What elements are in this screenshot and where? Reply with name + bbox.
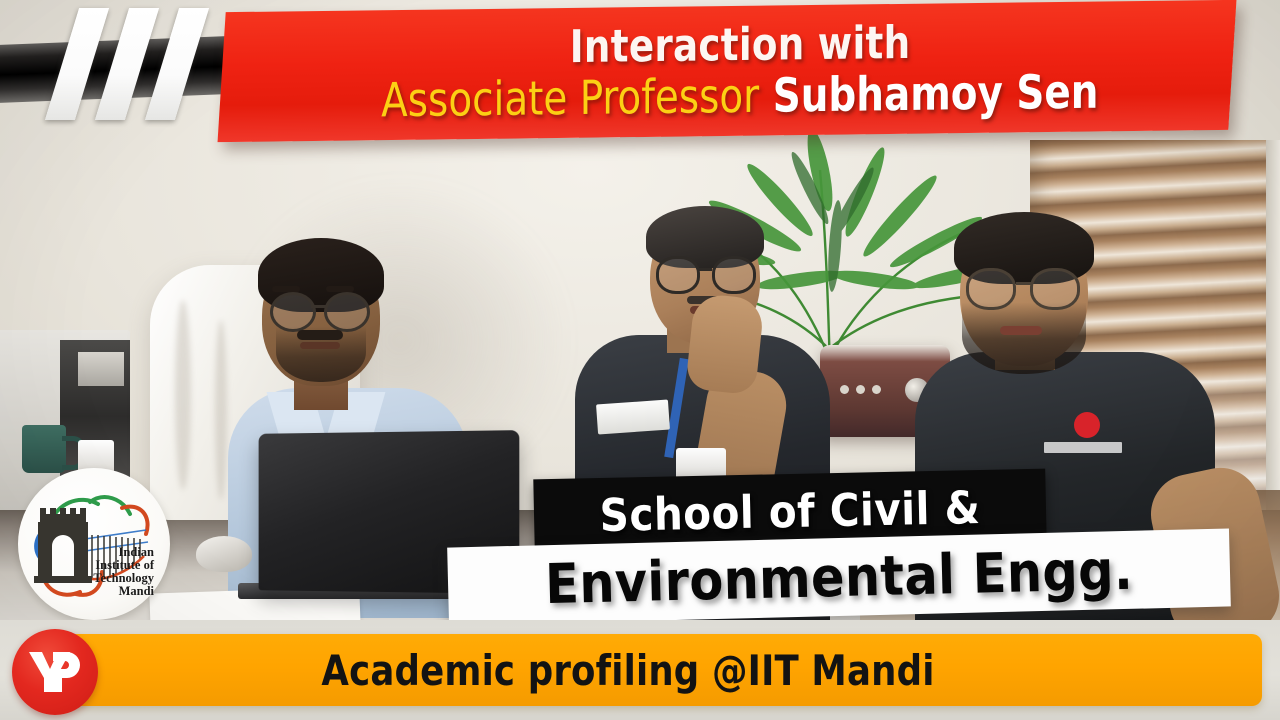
header-text-group: Interaction with Associate Professor Sub… [240,0,1240,142]
iit-logo-line-4: Mandi [119,584,155,598]
yp-logo-icon [23,640,87,704]
iit-logo-line-2: Institute of [95,558,155,572]
iit-logo-line-3: Technology [93,571,154,585]
header-role-text: Associate Professor [381,69,759,129]
header-title-line1: Interaction with [570,19,911,70]
iit-mandi-logo: Indian Institute of Technology Mandi [18,468,170,620]
video-thumbnail: Interaction with Associate Professor Sub… [0,0,1280,720]
header-name-text: Subhamoy Sen [773,65,1099,124]
bottom-bar-text: Academic profiling @IIT Mandi [73,634,1182,706]
header-title-line2: Associate Professor Subhamoy Sen [381,68,1098,126]
yp-logo [12,629,98,715]
iit-logo-line-1: Indian [119,545,154,559]
iit-mandi-logo-svg: Indian Institute of Technology Mandi [18,468,170,620]
